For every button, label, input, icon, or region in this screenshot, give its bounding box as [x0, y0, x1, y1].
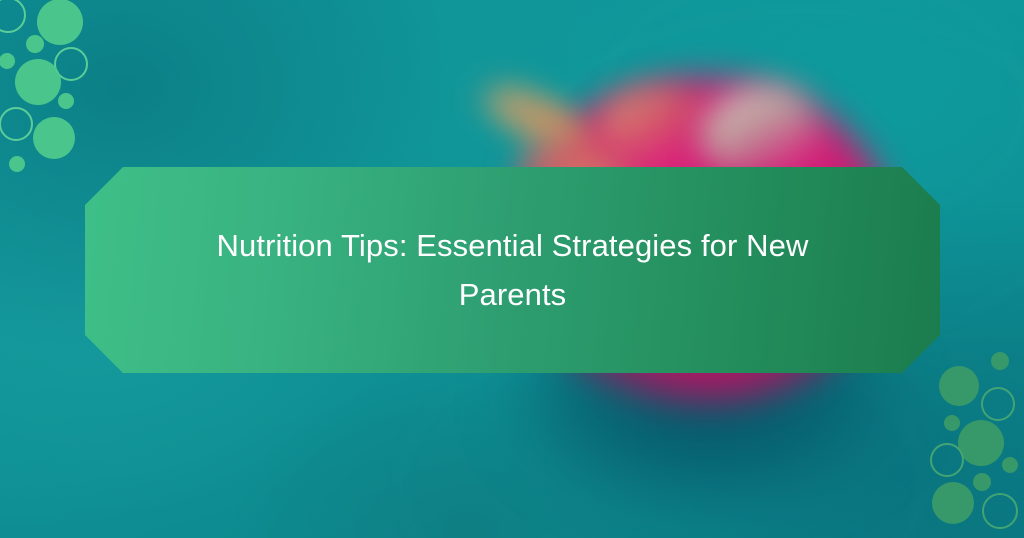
title-banner: Nutrition Tips: Essential Strategies for…: [85, 167, 940, 373]
page-title: Nutrition Tips: Essential Strategies for…: [193, 221, 833, 319]
page-title-line-2: Parents: [459, 277, 567, 312]
banner-graphic: Nutrition Tips: Essential Strategies for…: [0, 0, 1024, 538]
page-title-line-1: Nutrition Tips: Essential Strategies for…: [217, 228, 809, 263]
